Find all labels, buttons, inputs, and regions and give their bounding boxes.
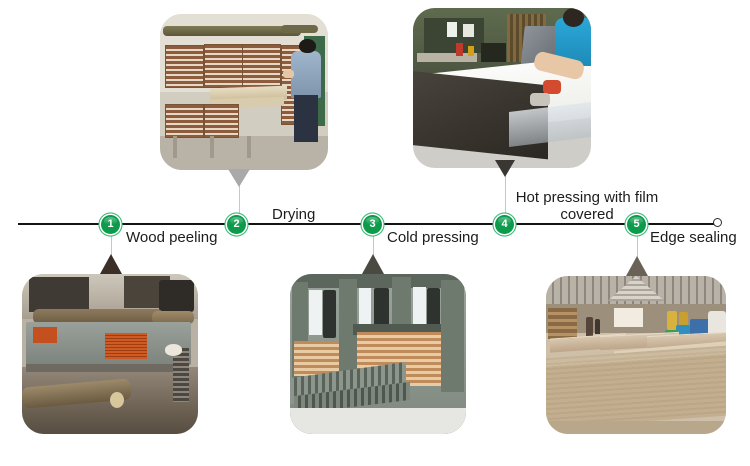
timeline-marker-1[interactable]: 1 — [101, 215, 120, 234]
stage-label-edge-sealing: Edge sealing — [650, 229, 737, 246]
hot-press-film-photo — [413, 8, 591, 168]
photo-card-drying[interactable] — [160, 14, 328, 170]
photo-card-hot-pressing[interactable] — [413, 8, 591, 168]
timeline-marker-4[interactable]: 4 — [495, 215, 514, 234]
pointer-triangle-drying — [228, 169, 250, 187]
photo-card-wood-peeling[interactable] — [22, 274, 198, 434]
pointer-triangle-edge-sealing — [626, 256, 648, 276]
veneer-drying-racks-photo — [160, 14, 328, 170]
stage-label-wood-peeling: Wood peeling — [126, 229, 217, 246]
photo-card-cold-pressing[interactable] — [290, 274, 466, 434]
log-peeling-machine-photo — [22, 274, 198, 434]
cold-press-machine-photo — [290, 274, 466, 434]
pointer-triangle-hot-pressing — [495, 160, 515, 177]
plywood-warehouse-photo — [546, 276, 726, 434]
timeline-marker-3[interactable]: 3 — [363, 215, 382, 234]
timeline-end-marker — [713, 218, 722, 227]
photo-card-edge-sealing[interactable] — [546, 276, 726, 434]
pointer-triangle-wood-peeling — [100, 254, 122, 274]
timeline-marker-2[interactable]: 2 — [227, 215, 246, 234]
process-timeline-diagram: 1 2 3 4 5 Wood peeling Drying Cold press… — [0, 0, 750, 466]
stage-label-drying: Drying — [272, 206, 315, 223]
stage-label-cold-pressing: Cold pressing — [387, 229, 479, 246]
timeline-marker-5[interactable]: 5 — [627, 215, 646, 234]
pointer-triangle-cold-pressing — [362, 254, 384, 274]
